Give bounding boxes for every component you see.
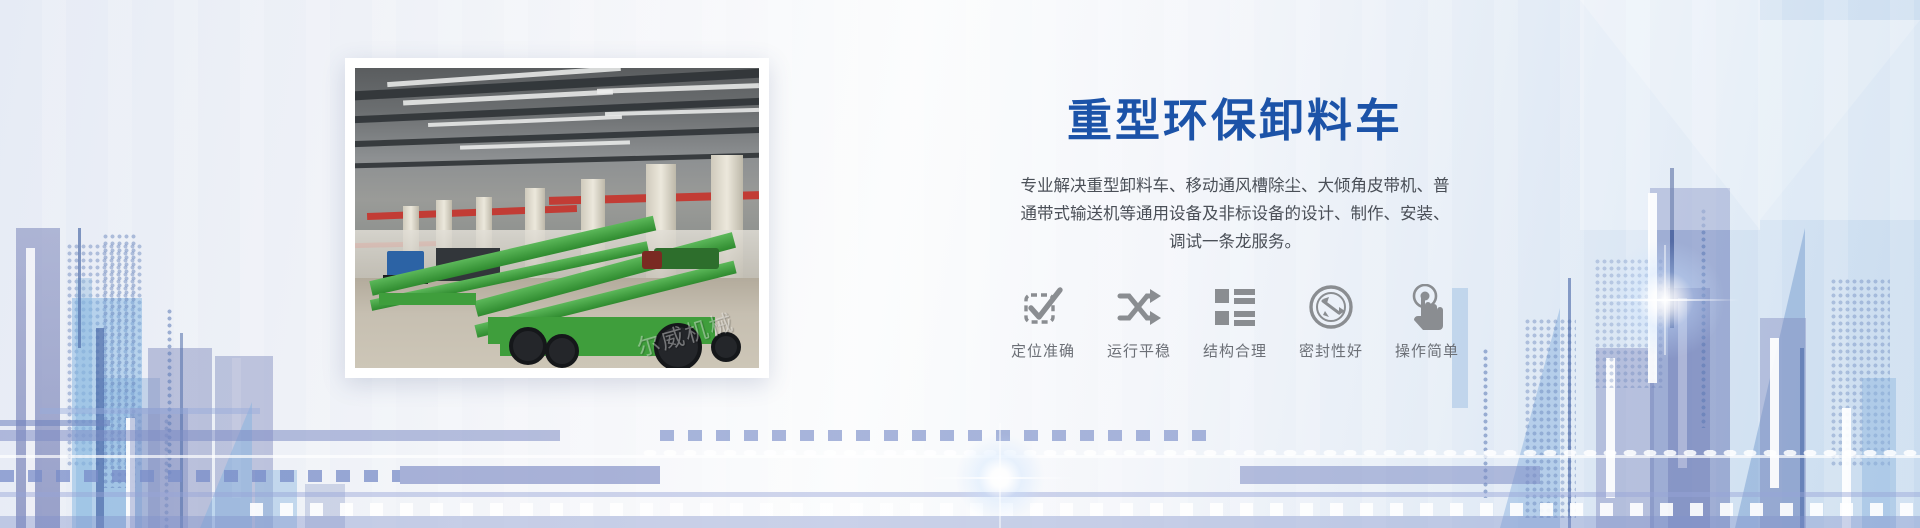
feature-label: 密封性好 — [1299, 340, 1363, 361]
shuffle-arrows-icon — [1117, 283, 1161, 331]
feature-label: 操作简单 — [1395, 340, 1459, 361]
hero-banner: 尔威机械 重型环保卸料车 专业解决重型卸料车、移动通风槽除尘、大倾角皮带机、普 … — [0, 0, 1920, 528]
seal-gauge-icon — [1309, 283, 1353, 331]
touch-hand-icon — [1406, 283, 1448, 331]
product-photo-frame: 尔威机械 — [345, 58, 769, 378]
page-title: 重型环保卸料车 — [1000, 96, 1470, 146]
description-line-2: 通带式输送机等通用设备及非标设备的设计、制作、安装、 — [1021, 205, 1450, 223]
product-photo: 尔威机械 — [355, 68, 759, 368]
banner-description: 专业解决重型卸料车、移动通风槽除尘、大倾角皮带机、普 通带式输送机等通用设备及非… — [1000, 172, 1470, 257]
background-skyline-right — [0, 0, 1920, 528]
background-bottom-bands — [0, 0, 1920, 528]
background-light-columns — [0, 0, 1920, 528]
feature-item-positioning[interactable]: 定位准确 — [1000, 283, 1086, 361]
feature-label: 定位准确 — [1011, 340, 1075, 361]
feature-item-easy-operation[interactable]: 操作简单 — [1384, 283, 1470, 361]
feature-list: 定位准确 运行平稳 — [1000, 283, 1470, 361]
background-skyline-left — [0, 0, 1920, 528]
feature-item-smooth-operation[interactable]: 运行平稳 — [1096, 283, 1182, 361]
description-line-3: 调试一条龙服务。 — [1169, 233, 1301, 251]
banner-content: 重型环保卸料车 专业解决重型卸料车、移动通风槽除尘、大倾角皮带机、普 通带式输送… — [1000, 96, 1470, 361]
list-blocks-icon — [1214, 283, 1256, 331]
description-line-1: 专业解决重型卸料车、移动通风槽除尘、大倾角皮带机、普 — [1021, 177, 1450, 195]
feature-label: 结构合理 — [1203, 340, 1267, 361]
feature-item-sealing[interactable]: 密封性好 — [1288, 283, 1374, 361]
checkbox-check-icon — [1022, 283, 1064, 331]
feature-item-structure[interactable]: 结构合理 — [1192, 283, 1278, 361]
feature-label: 运行平稳 — [1107, 340, 1171, 361]
